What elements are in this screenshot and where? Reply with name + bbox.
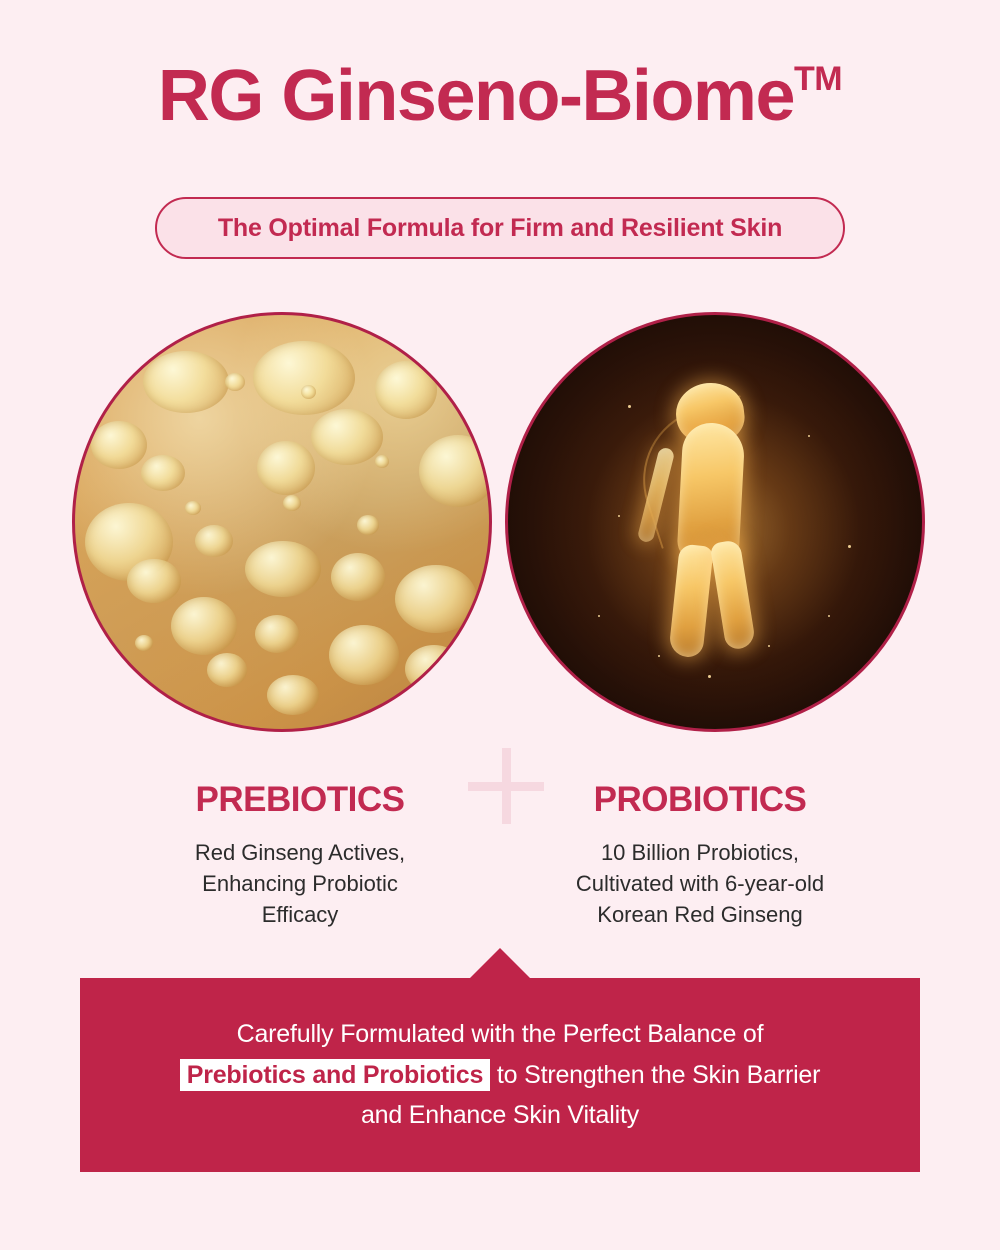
banner-highlight: Prebiotics and Probiotics bbox=[180, 1059, 490, 1091]
prebiotics-heading: PREBIOTICS bbox=[120, 782, 480, 819]
probiotics-image-circle bbox=[505, 312, 925, 732]
plus-icon bbox=[468, 748, 544, 824]
subtitle-text: The Optimal Formula for Firm and Resilie… bbox=[218, 214, 782, 243]
ginseng-root-graphic bbox=[630, 377, 800, 667]
banner-text: Carefully Formulated with the Perfect Ba… bbox=[140, 1014, 861, 1136]
prebiotics-description: Red Ginseng Actives, Enhancing Probiotic… bbox=[120, 837, 480, 931]
probiotics-column: PROBIOTICS 10 Billion Probiotics, Cultiv… bbox=[520, 782, 880, 930]
banner-line-3: and Enhance Skin Vitality bbox=[361, 1101, 639, 1129]
probiotics-heading: PROBIOTICS bbox=[520, 782, 880, 819]
page-title: RG Ginseno-Biome bbox=[158, 60, 794, 132]
banner-line-2-tail: to Strengthen the Skin Barrier bbox=[490, 1061, 820, 1089]
product-title-block: RG Ginseno-BiomeTM bbox=[0, 60, 1000, 132]
banner-line-1: Carefully Formulated with the Perfect Ba… bbox=[237, 1020, 764, 1048]
infographic-page: RG Ginseno-BiomeTM The Optimal Formula f… bbox=[0, 0, 1000, 1250]
trademark-symbol: TM bbox=[794, 62, 842, 96]
prebiotics-image-circle bbox=[72, 312, 492, 732]
summary-banner: Carefully Formulated with the Perfect Ba… bbox=[80, 978, 920, 1172]
banner-arrow bbox=[468, 948, 532, 980]
subtitle-pill: The Optimal Formula for Firm and Resilie… bbox=[155, 197, 845, 259]
prebiotics-column: PREBIOTICS Red Ginseng Actives, Enhancin… bbox=[120, 782, 480, 930]
probiotics-description: 10 Billion Probiotics, Cultivated with 6… bbox=[520, 837, 880, 931]
